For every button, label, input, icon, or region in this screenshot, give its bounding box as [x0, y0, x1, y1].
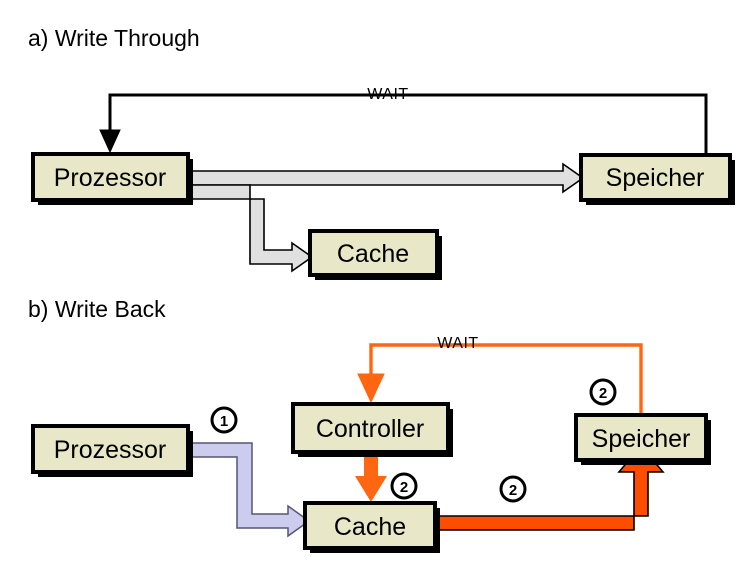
b-controller-label: Controller	[316, 415, 424, 443]
b-wait-arrowhead-icon	[358, 374, 384, 402]
a-cache-label: Cache	[337, 240, 409, 268]
b-arrow-prozessor-to-cache	[188, 443, 309, 536]
section-b-title: b) Write Back	[28, 296, 166, 322]
a-prozessor-label: Prozessor	[54, 164, 167, 192]
diagram-canvas: a) Write Through WAIT Prozessor	[0, 0, 751, 580]
b-step-marker-2-controller-cache: 2	[392, 474, 416, 498]
b-step-marker-2-wait: 2	[591, 380, 615, 404]
a-node-speicher[interactable]: Speicher	[581, 155, 735, 205]
section-a-title: a) Write Through	[28, 25, 200, 51]
section-write-back: b) Write Back WAIT	[28, 296, 711, 553]
a-node-cache[interactable]: Cache	[310, 231, 442, 280]
b-step-marker-2-cache-speicher: 2	[501, 477, 525, 501]
step-2b-label: 2	[509, 482, 517, 499]
a-wait-label: WAIT	[367, 86, 408, 103]
cache-write-policy-diagram: a) Write Through WAIT Prozessor	[0, 0, 751, 580]
step-1-label: 1	[220, 413, 228, 430]
b-cache-label: Cache	[334, 513, 406, 541]
b-wait-label: WAIT	[437, 335, 478, 352]
a-wait-arrowhead-icon	[100, 130, 120, 152]
b-controller-cache-arrowhead-icon	[355, 476, 387, 502]
b-step-marker-1: 1	[212, 408, 236, 432]
step-2c-label: 2	[599, 385, 607, 402]
a-gray-arrow-branch-icon	[188, 185, 312, 271]
b-speicher-label: Speicher	[592, 425, 691, 453]
a-wait-line	[110, 95, 706, 155]
section-write-through: a) Write Through WAIT Prozessor	[28, 25, 735, 280]
b-arrow-controller-to-cache	[355, 452, 387, 502]
a-wait-connector: WAIT	[100, 86, 706, 155]
step-2a-label: 2	[400, 479, 408, 496]
b-prozessor-label: Prozessor	[54, 436, 167, 464]
b-lavender-arrow-icon	[188, 443, 309, 536]
a-node-prozessor[interactable]: Prozessor	[33, 154, 193, 205]
a-arrow-prozessor-to-cache	[188, 185, 312, 271]
b-node-controller[interactable]: Controller	[293, 404, 453, 457]
b-node-cache[interactable]: Cache	[305, 503, 440, 553]
b-node-prozessor[interactable]: Prozessor	[33, 426, 193, 477]
b-node-speicher[interactable]: Speicher	[576, 415, 711, 465]
a-speicher-label: Speicher	[606, 164, 705, 192]
